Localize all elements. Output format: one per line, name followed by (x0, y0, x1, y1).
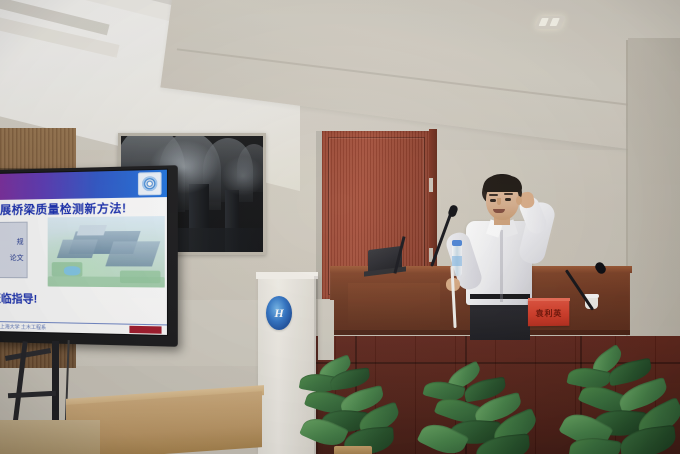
potted-plant (420, 368, 560, 454)
slide-subtitle: 莅临指导! (0, 290, 165, 309)
slide-title: 发展桥梁质量检测新方法! (0, 199, 167, 218)
presentation-slide: 发展桥梁质量检测新方法! 规 论文 莅临指导! 上海大学 (0, 170, 167, 335)
university-emblem-icon (138, 172, 162, 196)
shirt-placket (500, 230, 503, 302)
presentation-display[interactable]: 发展桥梁质量检测新方法! 规 论文 莅临指导! 上海大学 (0, 165, 178, 347)
potted-plant (560, 352, 680, 454)
desk-side-block (348, 283, 440, 327)
desk-name-plate: 袁利英 (528, 300, 569, 326)
slide-footer-marker (129, 326, 161, 334)
water-bottle-label (452, 256, 462, 266)
speaker-brow-right (504, 193, 513, 195)
tv-bezel: 发展桥梁质量检测新方法! 规 论文 莅临指导! 上海大学 (0, 169, 168, 336)
slide-footer-text: 上海大学 土木工程系 (0, 323, 128, 333)
speaker-eye-left (490, 199, 496, 202)
wall-slice-behind-podium (318, 300, 334, 360)
name-plate-text: 袁利英 (528, 308, 569, 319)
slide-building-photo (48, 216, 165, 288)
right-wall (628, 38, 680, 378)
podium-top (256, 272, 318, 279)
lecture-hall-photo: 袁利英 H 发展桥梁质量检测新方法! 规 论文 (0, 0, 680, 454)
speaker-eye-right (505, 198, 511, 201)
podium-logo-mark: H (272, 305, 286, 321)
speaker-brow-left (489, 194, 498, 196)
slide-side-line-2: 论文 (10, 253, 24, 263)
water-bottle-cap (452, 240, 462, 246)
slide-side-textbox: 规 论文 (0, 222, 28, 279)
speaker-nose (497, 198, 501, 205)
recessed-ceiling-light-icon (534, 16, 565, 29)
potted-plant (300, 356, 430, 454)
name-plate-fold (528, 298, 570, 301)
speaker-ear (516, 196, 522, 205)
floor (0, 420, 100, 454)
slide-side-line-1: 规 (17, 237, 24, 247)
door-hinge-top (429, 178, 433, 192)
speaker-hair-fringe (483, 176, 522, 192)
